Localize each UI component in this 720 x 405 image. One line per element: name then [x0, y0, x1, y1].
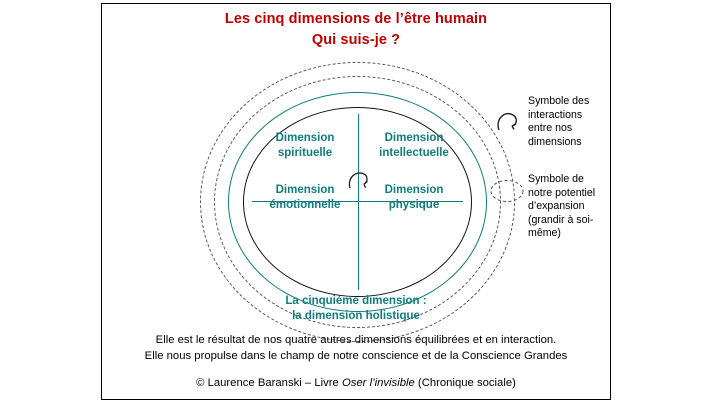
fifth-dimension-line1: La cinquième dimension : — [176, 294, 536, 309]
fifth-dimension-caption: La cinquième dimension : la dimension ho… — [176, 294, 536, 324]
credit-after: (Chronique sociale) — [415, 377, 516, 389]
quadrant-label-physique: Dimension physique — [362, 183, 466, 212]
title-line-1: Les cinq dimensions de l’être humain — [101, 9, 611, 30]
quadrant-spirituelle-line1: Dimension — [253, 131, 357, 146]
description-paragraph: Elle est le résultat de nos quatre autre… — [106, 333, 606, 364]
quadrant-physique-line2: physique — [362, 198, 466, 213]
credit-line: © Laurence Baranski – Livre Oser l’invis… — [106, 377, 606, 389]
page-title: Les cinq dimensions de l’être humain Qui… — [101, 9, 611, 51]
description-line-2: Elle nous propulse dans le champ de notr… — [106, 349, 606, 365]
quadrant-emotionnelle-line1: Dimension — [253, 183, 357, 198]
title-line-2: Qui suis-je ? — [101, 30, 611, 51]
credit-before: © Laurence Baranski – Livre — [196, 377, 342, 389]
slide-canvas: Les cinq dimensions de l’être humain Qui… — [0, 0, 720, 405]
credit-book-title: Oser l’invisible — [342, 377, 415, 389]
description-line-1: Elle est le résultat de nos quatre autre… — [106, 333, 606, 349]
interaction-arc-icon-legend — [494, 108, 522, 134]
quadrant-emotionnelle-line2: émotionnelle — [253, 198, 357, 213]
quadrant-intellectuelle-line2: intellectuelle — [362, 146, 466, 161]
legend-expansion-text: Symbole de notre potentiel d’expansion (… — [528, 173, 606, 241]
quadrant-intellectuelle-line1: Dimension — [362, 131, 466, 146]
expansion-ellipse-icon-legend — [489, 178, 525, 204]
quadrant-label-spirituelle: Dimension spirituelle — [253, 131, 357, 160]
quadrant-label-intellectuelle: Dimension intellectuelle — [362, 131, 466, 160]
fifth-dimension-line2: la dimension holistique — [176, 309, 536, 324]
quadrant-physique-line1: Dimension — [362, 183, 466, 198]
quadrant-label-emotionnelle: Dimension émotionnelle — [253, 183, 357, 212]
legend-interactions-text: Symbole des interactions entre nos dimen… — [528, 95, 608, 149]
quadrant-spirituelle-line2: spirituelle — [253, 146, 357, 161]
